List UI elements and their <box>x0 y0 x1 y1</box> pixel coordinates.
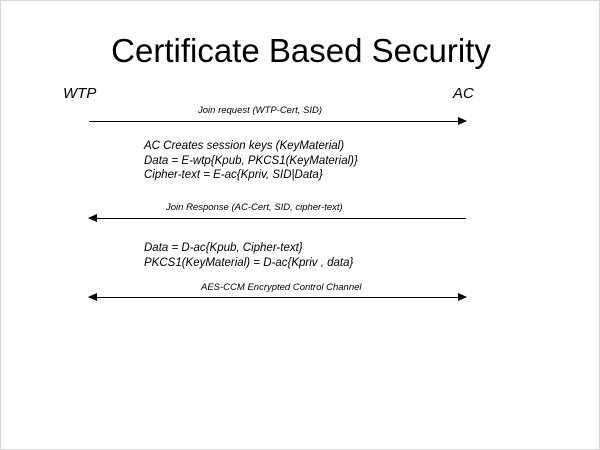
page-title: Certificate Based Security <box>1 33 600 69</box>
arrow-shaft <box>89 121 466 122</box>
slide-canvas: Certificate Based Security WTP AC Join r… <box>0 0 600 450</box>
actor-label-wtp: WTP <box>63 85 96 102</box>
arrowhead-left-icon <box>88 214 97 222</box>
message-arrow-join-request <box>89 116 466 127</box>
message-label-join-response: Join Response (AC-Cert, SID, cipher-text… <box>166 202 343 213</box>
message-label-join-request: Join request (WTP-Cert, SID) <box>198 105 322 116</box>
arrowhead-right-icon <box>458 117 467 125</box>
message-arrow-join-response <box>89 213 466 224</box>
note-line: AC Creates session keys (KeyMaterial) <box>144 139 358 154</box>
actor-label-ac: AC <box>453 85 474 102</box>
note-line: Data = E-wtp{Kpub, PKCS1(KeyMaterial)} <box>144 154 358 169</box>
message-arrow-control-channel <box>89 292 466 303</box>
note-line: Cipher-text = E-ac{Kpriv, SID|Data} <box>144 168 358 183</box>
arrowhead-right-icon <box>458 293 467 301</box>
note-line: PKCS1(KeyMaterial) = D-ac{Kpriv , data} <box>144 256 353 271</box>
arrowhead-left-icon <box>88 293 97 301</box>
note-ac-session-keys: AC Creates session keys (KeyMaterial) Da… <box>144 139 358 183</box>
arrow-shaft <box>89 218 466 219</box>
note-wtp-decrypt: Data = D-ac{Kpub, Cipher-text} PKCS1(Key… <box>144 241 353 270</box>
arrow-shaft <box>89 297 466 298</box>
note-line: Data = D-ac{Kpub, Cipher-text} <box>144 241 353 256</box>
